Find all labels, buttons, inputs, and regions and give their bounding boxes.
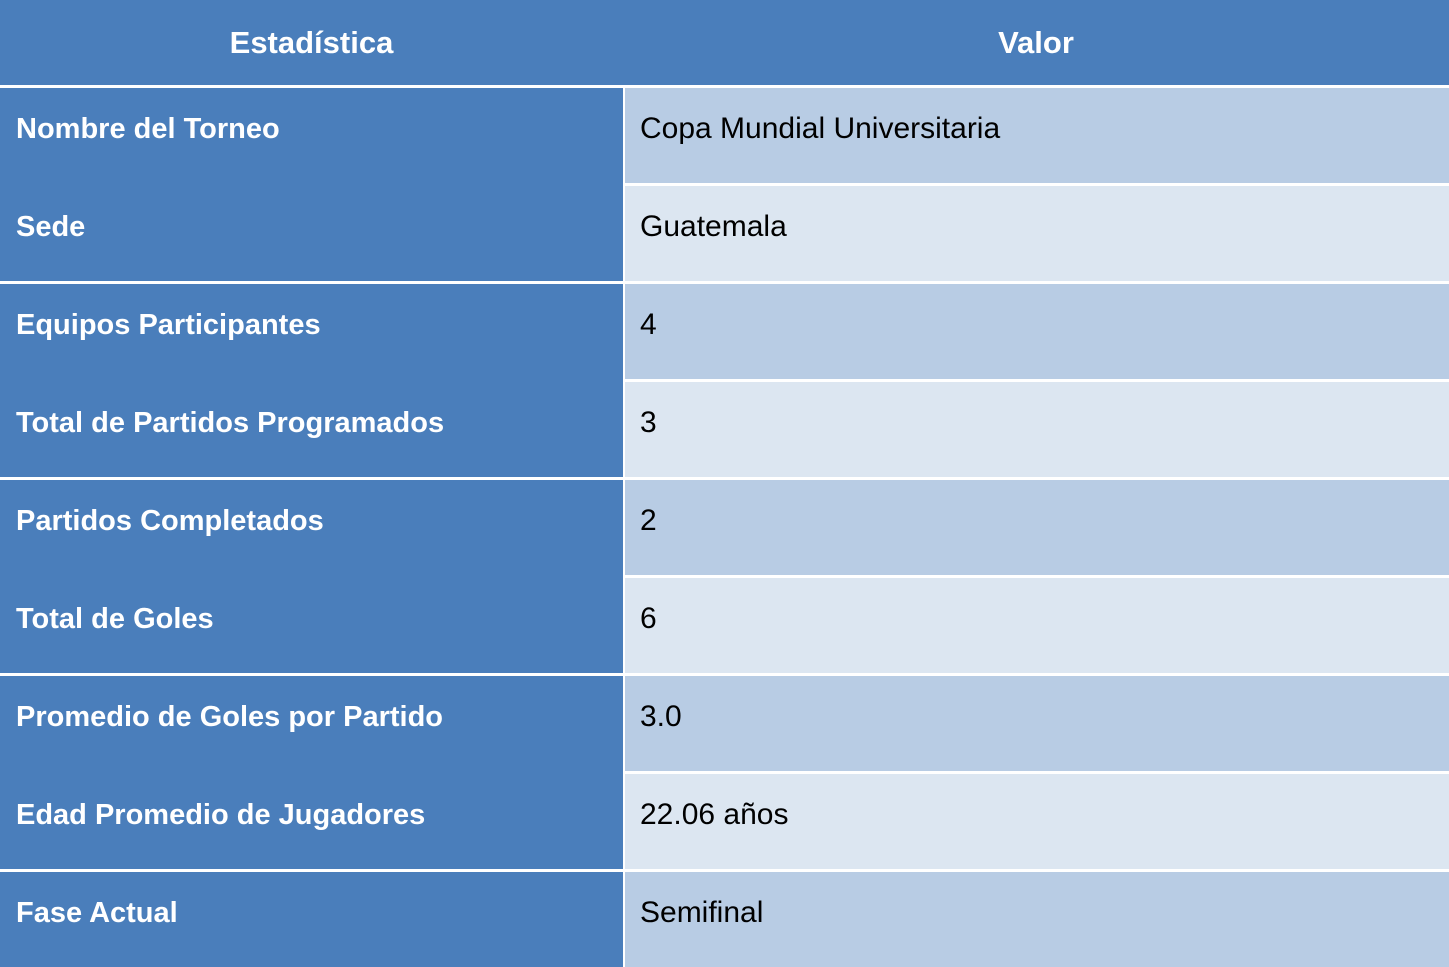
stat-value-cell: 6 bbox=[623, 575, 1449, 673]
stat-label-cell: Total de Partidos Programados bbox=[0, 379, 623, 477]
stat-value-text: Guatemala bbox=[640, 183, 1449, 245]
table-row: Edad Promedio de Jugadores22.06 años bbox=[0, 771, 1449, 869]
stat-label-cell: Nombre del Torneo bbox=[0, 85, 623, 183]
table-row: Total de Partidos Programados3 bbox=[0, 379, 1449, 477]
stat-label-text: Fase Actual bbox=[16, 869, 623, 931]
stat-value-cell: 3 bbox=[623, 379, 1449, 477]
stat-label-text: Nombre del Torneo bbox=[16, 85, 623, 147]
stat-value-cell: 4 bbox=[623, 281, 1449, 379]
stat-label-cell: Total de Goles bbox=[0, 575, 623, 673]
stat-label-cell: Equipos Participantes bbox=[0, 281, 623, 379]
stat-label-text: Promedio de Goles por Partido bbox=[16, 673, 623, 735]
stat-value-cell: 22.06 años bbox=[623, 771, 1449, 869]
stat-label-cell: Edad Promedio de Jugadores bbox=[0, 771, 623, 869]
stat-label-text: Sede bbox=[16, 183, 623, 245]
table-row: SedeGuatemala bbox=[0, 183, 1449, 281]
stat-label-text: Total de Goles bbox=[16, 575, 623, 637]
stat-value-cell: Guatemala bbox=[623, 183, 1449, 281]
stat-value-text: 4 bbox=[640, 281, 1449, 343]
stat-value-cell: Semifinal bbox=[623, 869, 1449, 967]
statistics-table: Estadística Valor Nombre del TorneoCopa … bbox=[0, 0, 1449, 943]
stat-value-cell: 2 bbox=[623, 477, 1449, 575]
stat-value-text: Copa Mundial Universitaria bbox=[640, 85, 1449, 147]
stat-value-cell: 3.0 bbox=[623, 673, 1449, 771]
stat-value-text: 22.06 años bbox=[640, 771, 1449, 833]
table-row: Partidos Completados2 bbox=[0, 477, 1449, 575]
table-row: Fase ActualSemifinal bbox=[0, 869, 1449, 967]
stat-value-cell: Copa Mundial Universitaria bbox=[623, 85, 1449, 183]
stat-value-text: 6 bbox=[640, 575, 1449, 637]
stat-label-cell: Partidos Completados bbox=[0, 477, 623, 575]
table-header-row: Estadística Valor bbox=[0, 0, 1449, 85]
stat-label-cell: Fase Actual bbox=[0, 869, 623, 967]
stat-label-text: Partidos Completados bbox=[16, 477, 623, 539]
stat-value-text: 3 bbox=[640, 379, 1449, 441]
column-header-valor: Valor bbox=[623, 0, 1449, 85]
stat-label-cell: Sede bbox=[0, 183, 623, 281]
stat-value-text: Semifinal bbox=[640, 869, 1449, 931]
stat-label-text: Total de Partidos Programados bbox=[16, 379, 623, 441]
stat-label-text: Edad Promedio de Jugadores bbox=[16, 771, 623, 833]
table-row: Nombre del TorneoCopa Mundial Universita… bbox=[0, 85, 1449, 183]
column-header-estadistica: Estadística bbox=[0, 0, 623, 85]
table-row: Equipos Participantes4 bbox=[0, 281, 1449, 379]
stat-label-cell: Promedio de Goles por Partido bbox=[0, 673, 623, 771]
table-row: Promedio de Goles por Partido3.0 bbox=[0, 673, 1449, 771]
stat-value-text: 3.0 bbox=[640, 673, 1449, 735]
stat-value-text: 2 bbox=[640, 477, 1449, 539]
stat-label-text: Equipos Participantes bbox=[16, 281, 623, 343]
table-row: Total de Goles6 bbox=[0, 575, 1449, 673]
